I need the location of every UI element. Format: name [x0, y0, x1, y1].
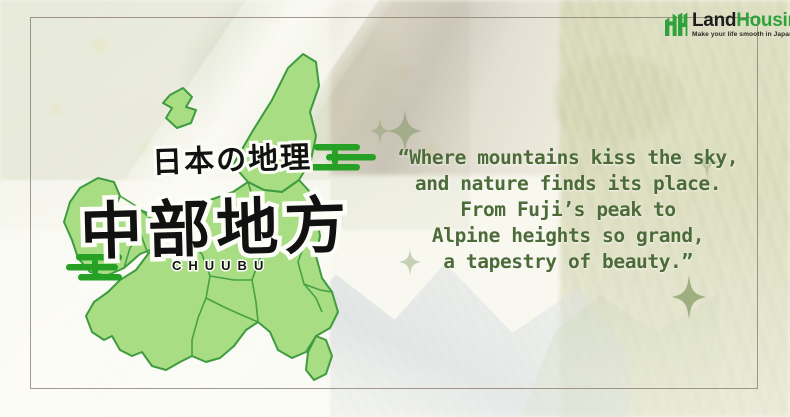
map-island-sado — [163, 88, 196, 128]
quote-line-4: Alpine heights so grand, — [392, 223, 744, 249]
page-title-japanese: 中部地方 — [79, 174, 353, 271]
quote-line-3: From Fuji’s peak to — [392, 197, 744, 223]
logo-name-part2: Housing — [736, 10, 790, 31]
quote-block: “Where mountains kiss the sky, and natur… — [392, 145, 744, 275]
page-title-romaji: CHUUBU — [172, 258, 270, 273]
quote-line-2: and nature finds its place. — [392, 171, 744, 197]
sparkle-star-icon-small — [370, 118, 390, 144]
quote-line-5: a tapestry of beauty.” — [392, 249, 744, 275]
cloud-motif-icon — [302, 142, 376, 178]
banner-root: 日本の地理 中部地方 CHUUBU “Where mountains kiss … — [0, 0, 790, 417]
logo-text-block: LandHousing Make your life smooth in Jap… — [692, 11, 790, 39]
sparkle-star-icon-right-lower — [672, 275, 706, 319]
house-logo-icon — [663, 12, 688, 38]
subtitle-japanese: 日本の地理 — [151, 132, 312, 182]
logo-tagline: Make your life smooth in Japan — [692, 32, 790, 39]
quote-line-1: “Where mountains kiss the sky, — [392, 145, 744, 171]
logo-name-part1: Land — [692, 10, 736, 31]
brand-logo[interactable]: LandHousing Make your life smooth in Jap… — [663, 11, 790, 39]
logo-name: LandHousing — [692, 11, 790, 30]
